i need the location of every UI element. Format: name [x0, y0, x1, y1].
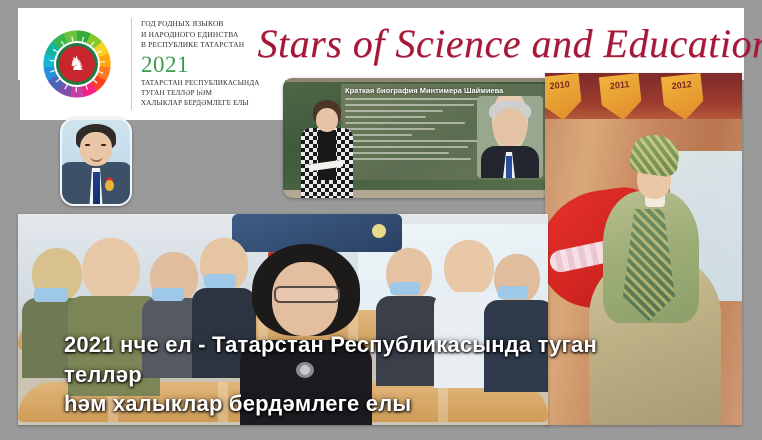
- year-banner-2010: 2010: [545, 73, 583, 122]
- slide-portrait-face: [493, 108, 527, 146]
- poster-title: Stars of Science and Education: [300, 16, 730, 72]
- slide-body-lines: [345, 98, 485, 164]
- front-row-woman: [246, 244, 366, 425]
- logo-divider: [131, 18, 132, 110]
- poster-title-text: Stars of Science and Education: [258, 24, 762, 64]
- presenting-student: [301, 100, 353, 198]
- slide-portrait-photo: [477, 96, 543, 178]
- winged-leopard-icon: ♞: [68, 55, 85, 74]
- logo-tt-line-1: ТАТАРСТАН РЕСПУБЛИКАСЫНДА: [141, 78, 279, 88]
- logo-tt-line-3: ХАЛЫКЛАР БЕРДӘМЛЕГЕ ЕЛЫ: [141, 98, 279, 108]
- woman-brooch: [296, 362, 314, 378]
- woman-glasses-icon: [274, 286, 340, 303]
- man-eye-right: [101, 144, 106, 146]
- man-eye-left: [85, 144, 90, 146]
- conference-audience-photo: [18, 214, 548, 425]
- year-banner-2011: 2011: [599, 73, 643, 122]
- traditional-tatar-costume-photo: 2010 2011 2012: [545, 73, 742, 425]
- audience-member: [488, 254, 548, 370]
- slide-title-text: Краткая биография Минтимера Шаймиева: [345, 86, 545, 95]
- student-inner-top: [318, 130, 336, 180]
- audience-member: [74, 238, 150, 368]
- audience-member: [380, 248, 438, 364]
- awarded-man-portrait: [60, 118, 132, 206]
- tatarstan-year-logo-block: ♞ ГОД РОДНЫХ ЯЗЫКОВ И НАРОДНОГО ЕДИНСТВА…: [20, 8, 285, 120]
- poster-canvas: ♞ ГОД РОДНЫХ ЯЗЫКОВ И НАРОДНОГО ЕДИНСТВА…: [0, 0, 762, 440]
- year-banner-row: 2010 2011 2012: [545, 73, 742, 119]
- award-medal-icon: [105, 180, 114, 191]
- woman-dress: [240, 340, 372, 425]
- slide-portrait-tie: [506, 156, 512, 178]
- tatarstan-winged-leopard-emblem-icon: ♞: [30, 17, 124, 111]
- man-tie: [93, 172, 100, 204]
- emblem-red-disc: ♞: [59, 46, 95, 82]
- student-face: [316, 108, 338, 132]
- audience-member: [194, 238, 254, 358]
- logo-tt-line-2: ТУГАН ТЕЛЛӘР һӘМ: [141, 88, 279, 98]
- year-banner-2012: 2012: [661, 73, 705, 122]
- presentation-photo: Краткая биография Минтимера Шаймиева: [283, 78, 551, 198]
